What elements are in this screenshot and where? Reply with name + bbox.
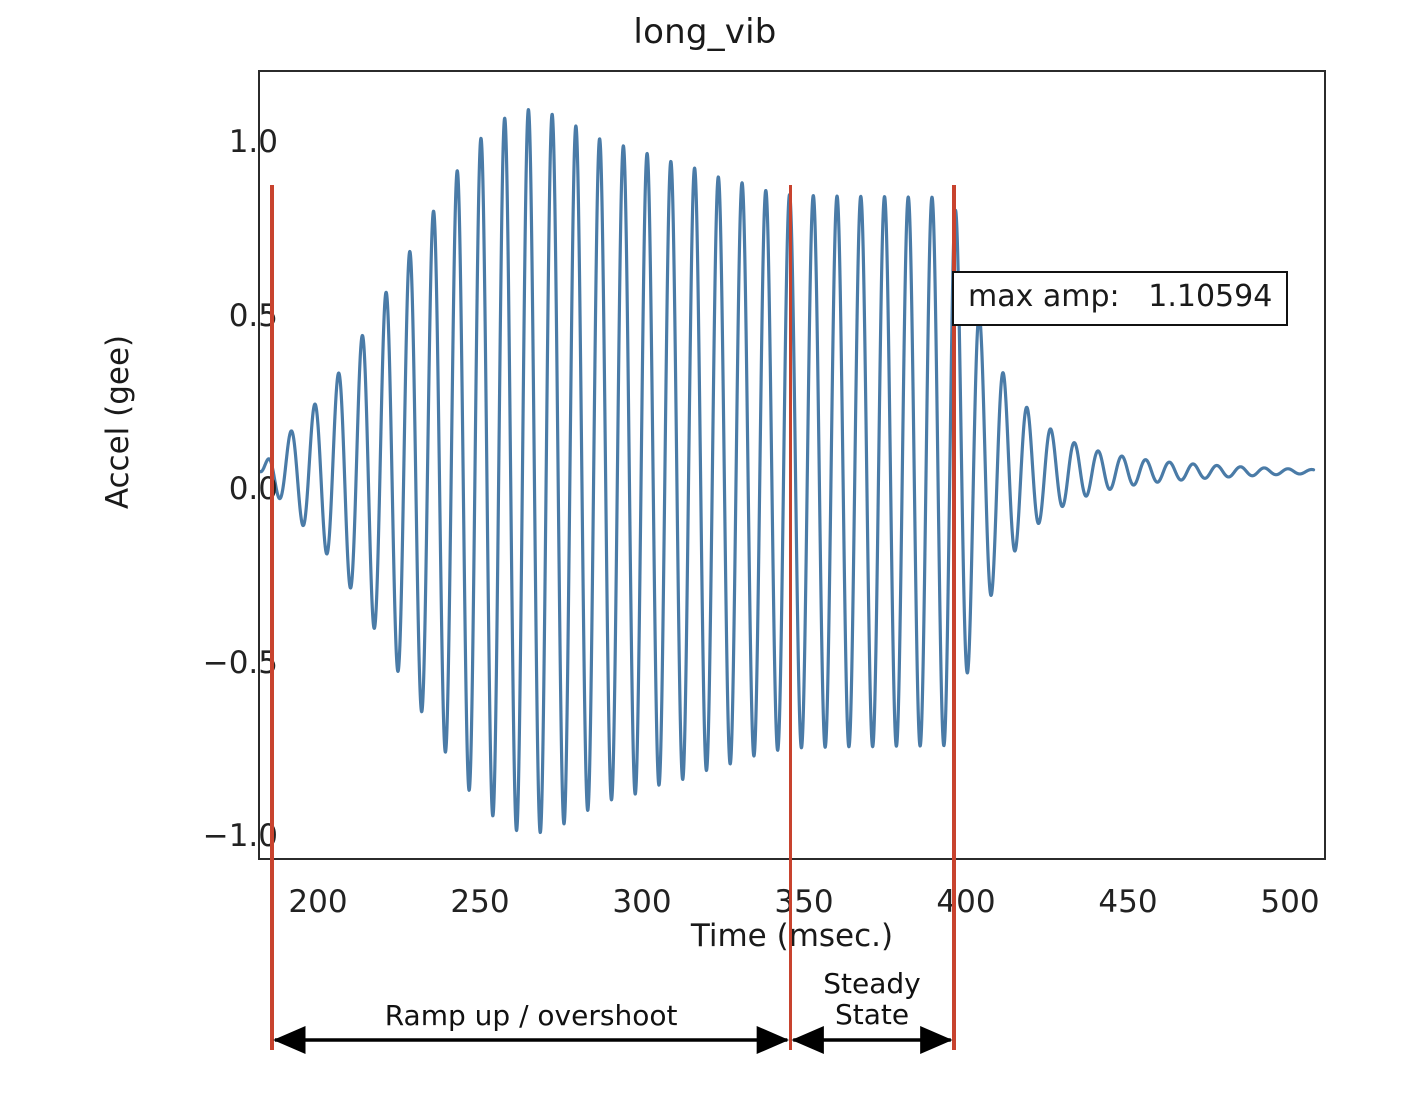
steady-span-label-line2: State bbox=[762, 999, 982, 1030]
figure-canvas: long_vib 1.0 0.5 0.0 −0.5 −1.0 200 250 3… bbox=[0, 0, 1410, 1100]
x-axis-label: Time (msec.) bbox=[258, 918, 1326, 954]
xtick-label: 350 bbox=[744, 884, 864, 920]
steady-span-label: Steady State bbox=[762, 968, 982, 1031]
ytick-label: −0.5 bbox=[158, 645, 278, 681]
max-amp-annotation: max amp: 1.10594 bbox=[952, 271, 1288, 326]
ramp-span-label: Ramp up / overshoot bbox=[272, 1000, 790, 1031]
page-title: long_vib bbox=[0, 12, 1410, 52]
steady-span-label-line1: Steady bbox=[762, 968, 982, 999]
vline-ramp-start bbox=[270, 185, 274, 1050]
xtick-label: 200 bbox=[258, 884, 378, 920]
plot-area bbox=[258, 70, 1326, 860]
y-axis-label: Accel (gee) bbox=[100, 252, 136, 592]
ytick-label: 1.0 bbox=[158, 124, 278, 160]
signal-line bbox=[260, 110, 1314, 833]
vline-steady-start bbox=[789, 185, 793, 1050]
signal-plot bbox=[260, 72, 1324, 858]
ytick-label: −1.0 bbox=[158, 818, 278, 854]
xtick-label: 250 bbox=[420, 884, 540, 920]
xtick-label: 400 bbox=[906, 884, 1026, 920]
xtick-label: 450 bbox=[1068, 884, 1188, 920]
xtick-label: 500 bbox=[1230, 884, 1350, 920]
ytick-label: 0.0 bbox=[158, 471, 278, 507]
xtick-label: 300 bbox=[582, 884, 702, 920]
ytick-label: 0.5 bbox=[158, 298, 278, 334]
